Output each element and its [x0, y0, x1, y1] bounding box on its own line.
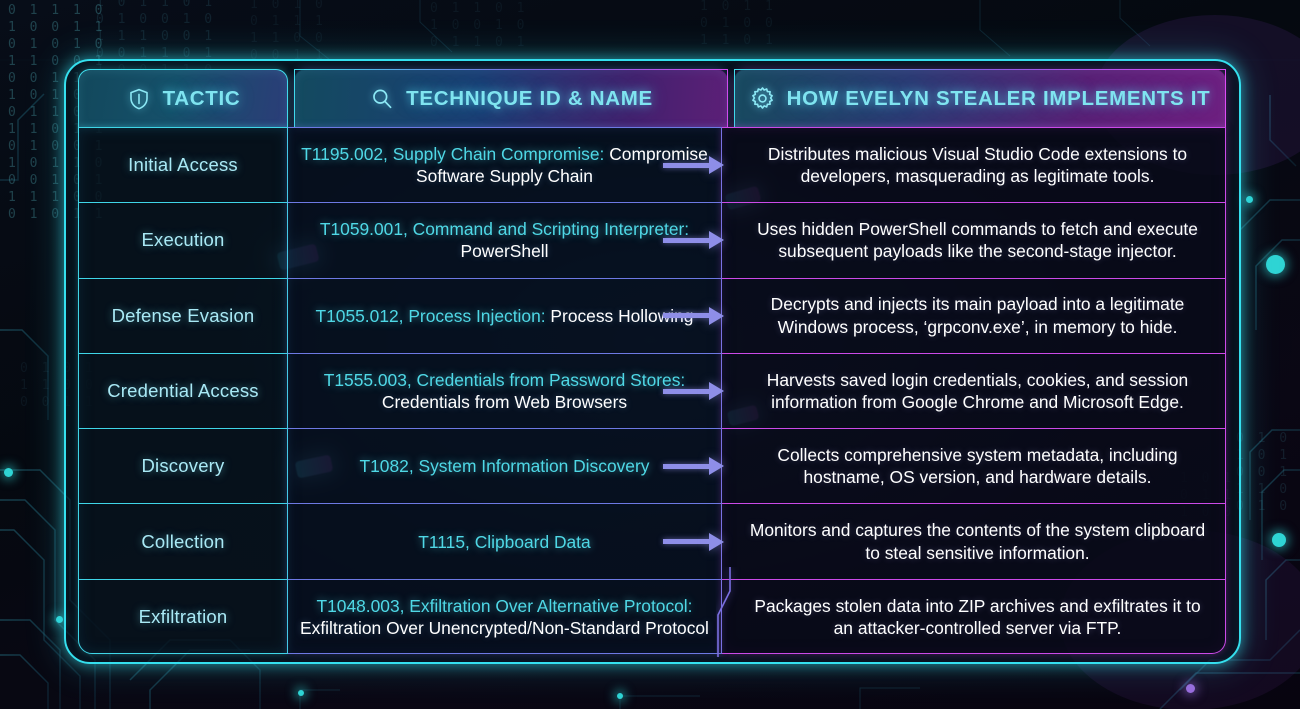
tactic-label: Credential Access: [107, 380, 258, 402]
implementation-text: Packages stolen data into ZIP archives a…: [739, 595, 1209, 640]
column-header-technique: TECHNIQUE ID & NAME: [294, 69, 728, 127]
table-row[interactable]: T1115, Clipboard Data: [288, 504, 721, 579]
technique-text: T1555.003, Credentials from Password Sto…: [300, 369, 710, 414]
table-row[interactable]: Defense Evasion: [79, 279, 287, 354]
tactic-column: Initial Access Execution Defense Evasion…: [78, 127, 288, 654]
technique-name: PowerShell: [461, 241, 549, 261]
column-header-implementation: HOW EVELYN STEALER IMPLEMENTS IT: [734, 69, 1226, 127]
technique-id: T1555.003, Credentials from Password Sto…: [324, 370, 686, 390]
tactic-label: Defense Evasion: [112, 305, 255, 327]
circuit-node: [298, 690, 304, 696]
technique-id: T1055.012, Process Injection:: [316, 306, 546, 326]
table-row[interactable]: Discovery: [79, 429, 287, 504]
table-row[interactable]: Uses hidden PowerShell commands to fetch…: [722, 203, 1225, 278]
implementation-text: Decrypts and injects its main payload in…: [739, 293, 1209, 338]
table-body: Initial Access Execution Defense Evasion…: [78, 127, 1226, 654]
binary-stream: 1 0 1 1 0 1 0 0 1 1 0 1: [700, 0, 776, 49]
circuit-node: [56, 616, 63, 623]
table-row[interactable]: T1048.003, Exfiltration Over Alternative…: [288, 580, 721, 655]
technique-id: T1082, System Information Discovery: [360, 456, 650, 476]
table-row[interactable]: Collection: [79, 504, 287, 579]
table-header-row: TACTIC TECHNIQUE ID & NAME HOW EVELYN ST…: [78, 69, 1226, 127]
circuit-node: [1246, 196, 1253, 203]
table-row[interactable]: Credential Access: [79, 354, 287, 429]
tactic-label: Execution: [141, 229, 224, 251]
table-row[interactable]: Monitors and captures the contents of th…: [722, 504, 1225, 579]
implementation-column: Distributes malicious Visual Studio Code…: [722, 127, 1226, 654]
gear-icon: [750, 86, 776, 112]
column-header-technique-label: TECHNIQUE ID & NAME: [406, 87, 653, 111]
technique-id: T1059.001, Command and Scripting Interpr…: [320, 219, 689, 239]
tactic-label: Exfiltration: [139, 606, 228, 628]
table-row[interactable]: T1055.012, Process Injection: Process Ho…: [288, 279, 721, 354]
table-row[interactable]: Collects comprehensive system metadata, …: [722, 429, 1225, 504]
technique-text: T1195.002, Supply Chain Compromise: Comp…: [300, 143, 710, 188]
implementation-text: Monitors and captures the contents of th…: [739, 519, 1209, 564]
implementation-text: Collects comprehensive system metadata, …: [739, 444, 1209, 489]
shield-icon: [126, 86, 152, 112]
table-row[interactable]: Distributes malicious Visual Studio Code…: [722, 128, 1225, 203]
table-row[interactable]: Packages stolen data into ZIP archives a…: [722, 580, 1225, 655]
technique-name: Credentials from Web Browsers: [382, 392, 627, 412]
circuit-node: [4, 468, 13, 477]
table-row[interactable]: T1059.001, Command and Scripting Interpr…: [288, 203, 721, 278]
search-icon: [369, 86, 395, 112]
implementation-text: Harvests saved login credentials, cookie…: [739, 369, 1209, 414]
table-row[interactable]: Harvests saved login credentials, cookie…: [722, 354, 1225, 429]
table-row[interactable]: Initial Access: [79, 128, 287, 203]
circuit-node: [617, 693, 623, 699]
technique-text: T1048.003, Exfiltration Over Alternative…: [298, 595, 711, 640]
table-row[interactable]: T1555.003, Credentials from Password Sto…: [288, 354, 721, 429]
technique-name: Process Hollowing: [550, 306, 693, 326]
table-row[interactable]: Decrypts and injects its main payload in…: [722, 279, 1225, 354]
table-row[interactable]: Execution: [79, 203, 287, 278]
technique-id: T1195.002, Supply Chain Compromise:: [301, 144, 604, 164]
technique-text: T1082, System Information Discovery: [360, 455, 650, 477]
technique-name: Exfiltration Over Unencrypted/Non-Standa…: [300, 618, 709, 638]
technique-column: T1195.002, Supply Chain Compromise: Comp…: [288, 127, 722, 654]
table-row[interactable]: T1195.002, Supply Chain Compromise: Comp…: [288, 128, 721, 203]
binary-stream: 0 1 0 1 0 1 0 0 1 1 1 0 0 1 0: [1236, 430, 1290, 515]
tactic-label: Discovery: [141, 455, 224, 477]
technique-id: T1115, Clipboard Data: [418, 532, 590, 552]
implementation-text: Uses hidden PowerShell commands to fetch…: [739, 218, 1209, 263]
column-header-implementation-label: HOW EVELYN STEALER IMPLEMENTS IT: [787, 87, 1211, 111]
circuit-node: [1266, 255, 1285, 274]
attack-mapping-table: TACTIC TECHNIQUE ID & NAME HOW EVELYN ST…: [78, 69, 1226, 654]
implementation-text: Distributes malicious Visual Studio Code…: [739, 143, 1209, 188]
binary-stream: 0 1 1 0 1 1 0 0 1 0 0 1 1 0 1: [430, 0, 527, 51]
table-row[interactable]: T1082, System Information Discovery: [288, 429, 721, 504]
technique-text: T1115, Clipboard Data: [418, 531, 590, 553]
binary-stream: 1 0 1 0 0 1 1 1 1 1 0 0 0 0 1 1: [250, 0, 326, 64]
column-header-tactic-label: TACTIC: [163, 87, 241, 111]
technique-id: T1048.003, Exfiltration Over Alternative…: [316, 596, 692, 616]
technique-text: T1059.001, Command and Scripting Interpr…: [300, 218, 710, 263]
circuit-node: [1272, 533, 1286, 547]
tactic-label: Collection: [141, 531, 224, 553]
table-row[interactable]: Exfiltration: [79, 580, 287, 655]
column-header-tactic: TACTIC: [78, 69, 288, 127]
tactic-label: Initial Access: [128, 154, 238, 176]
circuit-node: [1186, 684, 1195, 693]
technique-text: T1055.012, Process Injection: Process Ho…: [316, 305, 694, 327]
